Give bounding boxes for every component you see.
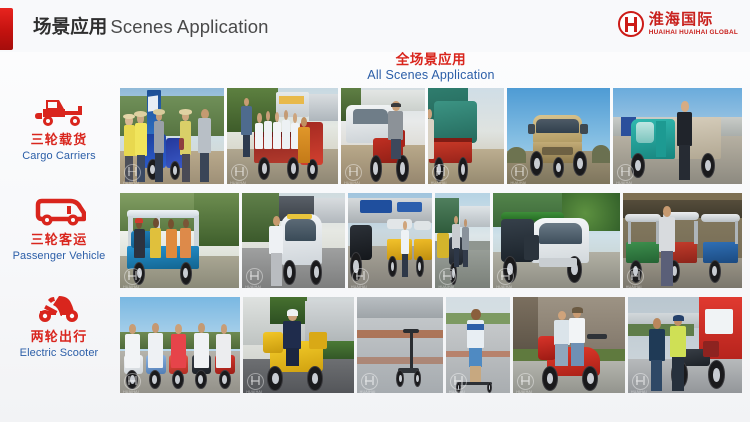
watermark-icon [632,373,649,390]
category-cargo-carriers[interactable]: 三轮载货 Cargo Carriers [0,94,118,163]
photo-row-electric-scooter: HUAIHAI [120,297,742,393]
watermark-label: HUAIHAI [351,285,367,288]
watermark-label: HUAIHAI [449,390,465,393]
watermark-icon [231,164,248,181]
logo-name-cn: 淮海国际 [649,12,738,27]
watermark-label: HUAIHAI [626,285,642,288]
photo-thumbnail[interactable]: HUAIHAI [428,88,505,184]
photo-row-cargo-carriers: HUAIHAI [120,88,742,184]
logo-name-en: HUAIHAI HUAIHAI GLOBAL [649,30,738,36]
page-title-en: Scenes Application [110,16,268,37]
section-title: 全场景应用 All Scenes Application [120,52,742,83]
passenger-van-icon [0,194,118,228]
page-title: 场景应用Scenes Application [33,13,269,39]
photo-thumbnail[interactable]: HUAIHAI [623,193,742,289]
watermark-label: HUAIHAI [123,390,139,393]
watermark-label: HUAIHAI [616,181,632,184]
slide: 场景应用Scenes Application 淮海国际 HUAIHAI HUAI… [0,0,750,422]
page-title-cn: 场景应用 [33,16,107,37]
category-label-cn: 两轮出行 [0,329,118,345]
watermark-icon [617,164,634,181]
watermark-icon [511,164,528,181]
watermark-icon [432,164,449,181]
slide-header: 场景应用Scenes Application 淮海国际 HUAIHAI HUAI… [0,0,750,52]
watermark-label: HUAIHAI [123,181,139,184]
watermark-label: HUAIHAI [510,181,526,184]
photo-thumbnail[interactable]: HUAIHAI [341,88,425,184]
photo-thumbnail[interactable]: HUAIHAI [435,193,490,289]
photo-thumbnail[interactable]: HUAIHAI [243,297,353,393]
category-label-en: Electric Scooter [0,346,118,360]
watermark-icon [345,164,362,181]
photo-thumbnail[interactable]: HUAIHAI [493,193,619,289]
logo-emblem-bar [625,23,637,26]
logo-emblem-icon [618,11,644,37]
category-label-cn: 三轮客运 [0,232,118,248]
photo-row-passenger-vehicle: HUAIHAI [120,193,742,289]
watermark-label: HUAIHAI [631,390,647,393]
photo-thumbnail[interactable]: HUAIHAI [120,297,240,393]
photo-thumbnail[interactable]: HUAIHAI [513,297,625,393]
watermark-label: HUAIHAI [438,285,454,288]
watermark-icon [627,268,644,285]
watermark-label: HUAIHAI [496,285,512,288]
category-label-cn: 三轮载货 [0,132,118,148]
watermark-label: HUAIHAI [431,181,447,184]
watermark-label: HUAIHAI [360,390,376,393]
watermark-label: HUAIHAI [230,181,246,184]
section-title-cn: 全场景应用 [120,52,742,68]
watermark-icon [450,373,467,390]
watermark-icon [124,373,141,390]
watermark-label: HUAIHAI [516,390,532,393]
watermark-label: HUAIHAI [246,390,262,393]
watermark-label: HUAIHAI [344,181,360,184]
photo-thumbnail[interactable]: HUAIHAI [120,88,224,184]
logo-text: 淮海国际 HUAIHAI HUAIHAI GLOBAL [649,12,738,36]
section-title-en: All Scenes Application [120,68,742,83]
category-sidebar: 三轮载货 Cargo Carriers 三轮客运 Passenger Vehic… [0,86,118,394]
photo-thumbnail[interactable]: HUAIHAI [348,193,433,289]
photo-thumbnail[interactable]: HUAIHAI [613,88,742,184]
photo-thumbnail[interactable]: HUAIHAI [446,297,510,393]
watermark-icon [361,373,378,390]
electric-scooter-icon [0,291,118,325]
photo-thumbnail[interactable]: HUAIHAI [628,297,742,393]
category-electric-scooter[interactable]: 两轮出行 Electric Scooter [0,291,118,360]
watermark-icon [124,164,141,181]
photo-thumbnail[interactable]: HUAIHAI [242,193,345,289]
watermark-label: HUAIHAI [123,285,139,288]
cargo-tricycle-icon [0,94,118,128]
brand-logo: 淮海国际 HUAIHAI HUAIHAI GLOBAL [618,11,738,37]
scenes-photo-grid: HUAIHAI [120,88,742,393]
category-label-en: Cargo Carriers [0,149,118,163]
category-label-en: Passenger Vehicle [0,249,118,263]
header-accent-bar [0,8,13,50]
photo-thumbnail[interactable]: HUAIHAI [120,193,239,289]
watermark-label: HUAIHAI [245,285,261,288]
category-passenger-vehicle[interactable]: 三轮客运 Passenger Vehicle [0,194,118,263]
photo-thumbnail[interactable]: HUAIHAI [227,88,338,184]
photo-thumbnail[interactable]: HUAIHAI [357,297,443,393]
photo-thumbnail[interactable]: HUAIHAI [507,88,610,184]
